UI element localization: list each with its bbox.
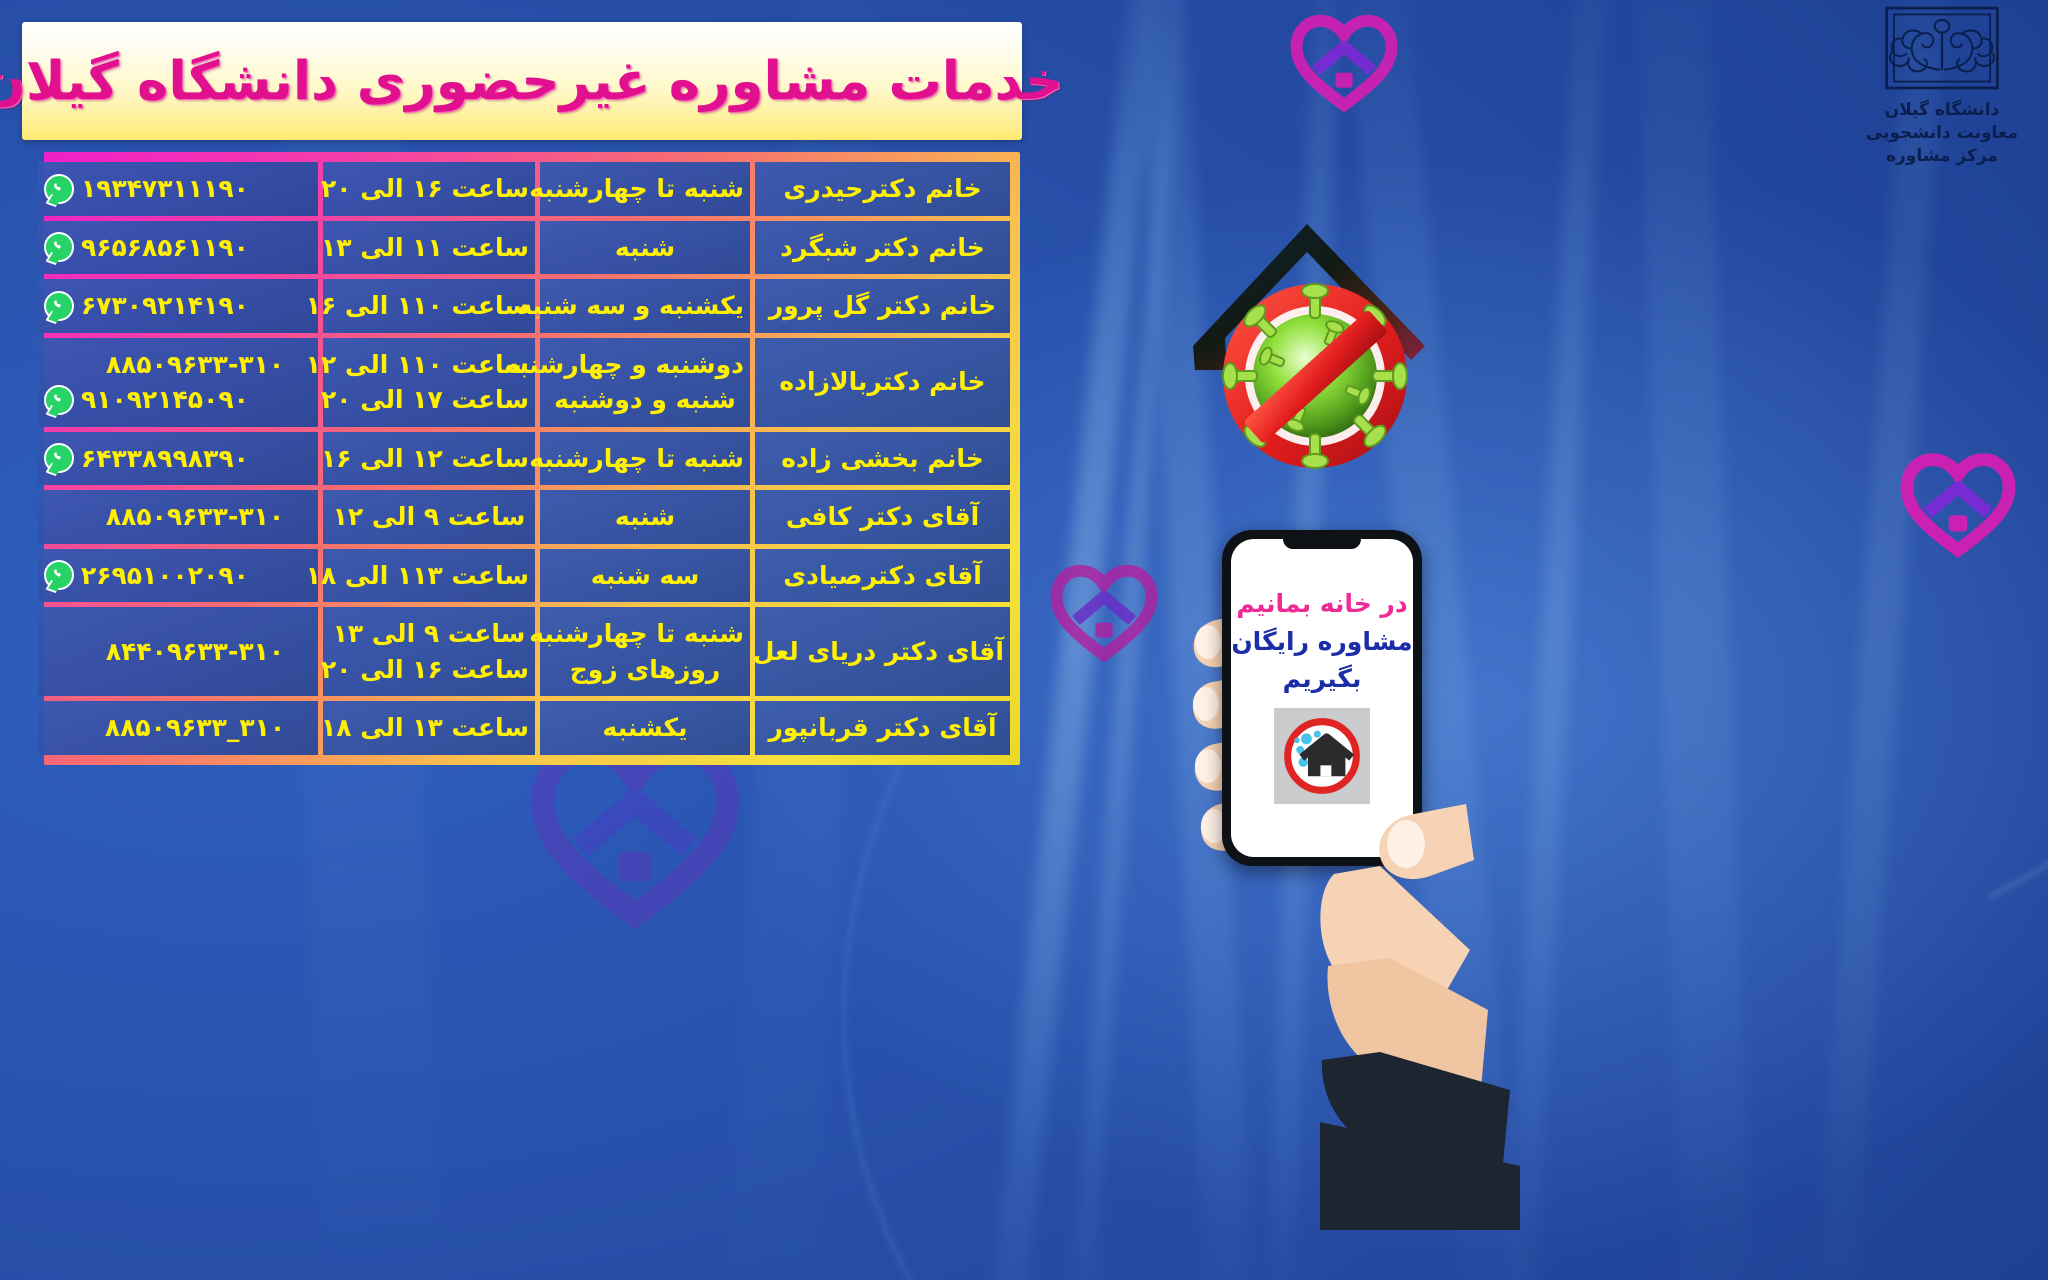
phone-cell: ۰۱۳-۳۳۶۹۰۵۸۸ — [38, 490, 318, 544]
whatsapp-icon[interactable] — [44, 385, 74, 415]
time-line: ساعت ۱۶ الی ۲۰ — [329, 652, 529, 688]
gilan-university-peacock-logo-icon — [1883, 4, 2001, 92]
schedule-table-frame: خانم دکترحیدریشنبه تا چهارشنبهساعت ۱۶ ال… — [44, 152, 1020, 765]
days-line: شنبه تا چهارشنبه — [546, 171, 744, 207]
phone-number[interactable]: ۰۹۱۴۱۲۹۰۳۷۶ — [81, 288, 249, 324]
phone-screen: در خانه بمانیم مشاوره رایگان بگیریم — [1231, 539, 1413, 857]
phone-number[interactable]: ۰۹۰۲۰۰۱۵۹۶۲ — [81, 558, 249, 594]
phone-in-hand-illustration: در خانه بمانیم مشاوره رایگان بگیریم — [1200, 520, 1530, 1280]
phone-notch — [1283, 534, 1361, 549]
advisor-name-cell: خانم دکتر شبگرد — [755, 221, 1010, 275]
days-cell: یکشنبه و سه شنبه — [540, 279, 750, 333]
table-row: خانم دکتر گل پروریکشنبه و سه شنبهساعت ۱۱… — [38, 279, 1010, 333]
days-cell: شنبه — [540, 221, 750, 275]
time-line: ساعت ۱۷ الی ۲۰ — [329, 382, 529, 418]
phone-cell: ۰۹۱۴۱۲۹۰۳۷۶ — [38, 279, 318, 333]
time-cell: ساعت ۱۳ الی ۱۸ — [323, 701, 535, 755]
time-cell: ساعت ۱۶ الی ۲۰ — [323, 162, 535, 216]
time-line: ساعت ۱۳ الی ۱۸ — [329, 710, 529, 746]
background-light-streak — [1807, 0, 1952, 1280]
table-row: آقای دکتر دریای لعلشنبه تا چهارشنبهروزها… — [38, 607, 1010, 696]
counseling-schedule-table: خانم دکترحیدریشنبه تا چهارشنبهساعت ۱۶ ال… — [33, 157, 1015, 760]
days-line: سه شنبه — [546, 558, 744, 594]
table-row: خانم دکترحیدریشنبه تا چهارشنبهساعت ۱۶ ال… — [38, 162, 1010, 216]
days-cell: سه شنبه — [540, 549, 750, 603]
promo-line-free-counseling: مشاوره رایگان — [1231, 623, 1412, 661]
time-line: ساعت ۱۱۳ الی ۱۸ — [329, 558, 529, 594]
phone-number[interactable]: ۰۹۳۸۹۹۸۳۳۴۶ — [81, 441, 249, 477]
advisor-name-cell: خانم دکتربالازاده — [755, 338, 1010, 427]
days-line: شنبه تا چهارشنبه — [546, 616, 744, 652]
days-line: دوشنبه و چهارشنبه — [546, 347, 744, 383]
page-title: خدمات مشاوره غیرحضوری دانشگاه گیلان — [0, 51, 1063, 112]
days-cell: شنبه تا چهارشنبه — [540, 162, 750, 216]
heart-house-icon — [1050, 560, 1158, 668]
whatsapp-icon[interactable] — [44, 232, 74, 262]
table-row: آقای دکتر قربانپوریکشنبهساعت ۱۳ الی ۱۸۰۱… — [38, 701, 1010, 755]
time-cell: ساعت ۱۱۳ الی ۱۸ — [323, 549, 535, 603]
time-cell: ساعت ۱۱۰ الی ۱۲ساعت ۱۷ الی ۲۰ — [323, 338, 535, 427]
phone-line: ۰۹۳۸۹۹۸۳۳۴۶ — [44, 441, 312, 477]
time-line: ساعت ۱۱۰ الی ۱۶ — [329, 288, 529, 324]
days-cell: شنبه تا چهارشنبهروزهای زوج — [540, 607, 750, 696]
time-line: ساعت ۱۶ الی ۲۰ — [329, 171, 529, 207]
days-line: شنبه و دوشنبه — [546, 382, 744, 418]
stay-home-virus-icon — [1283, 717, 1361, 795]
phone-line: ۰۱۳_۳۳۶۹۰۵۸۸ — [44, 710, 312, 746]
background-light-streak — [1634, 0, 1757, 1280]
advisor-name-cell: آقای دکتر کافی — [755, 490, 1010, 544]
phone-number[interactable]: ۰۱۳-۳۳۶۹۰۵۸۸ — [106, 499, 284, 535]
phone-cell: ۰۹۳۸۹۹۸۳۳۴۶ — [38, 432, 318, 486]
advisor-name-cell: آقای دکتر دریای لعل — [755, 607, 1010, 696]
days-line: شنبه — [546, 499, 744, 535]
phone-cell: ۰۹۱۱۶۵۸۶۵۶۹ — [38, 221, 318, 275]
phone-number[interactable]: ۰۱۳_۳۳۶۹۰۵۸۸ — [105, 710, 285, 746]
advisor-name-cell: خانم دکتر گل پرور — [755, 279, 1010, 333]
days-cell: دوشنبه و چهارشنبهشنبه و دوشنبه — [540, 338, 750, 427]
stay-home-badge — [1274, 708, 1370, 804]
advisor-name-cell: خانم دکترحیدری — [755, 162, 1010, 216]
schedule-table-body: خانم دکترحیدریشنبه تا چهارشنبهساعت ۱۶ ال… — [38, 162, 1010, 755]
phone-line: ۰۹۱۱۶۵۸۶۵۶۹ — [44, 230, 312, 266]
phone-line: ۰۱۳-۳۳۶۹۰۴۴۸ — [44, 634, 312, 670]
phone-number[interactable]: ۰۹۱۱۶۵۸۶۵۶۹ — [81, 230, 249, 266]
time-line: ساعت ۱۱۰ الی ۱۲ — [329, 347, 529, 383]
smartphone-device: در خانه بمانیم مشاوره رایگان بگیریم — [1222, 530, 1422, 866]
table-row: خانم دکتربالازادهدوشنبه و چهارشنبهشنبه و… — [38, 338, 1010, 427]
heart-house-icon — [1900, 448, 2016, 564]
time-cell: ساعت ۱۱ الی ۱۳ — [323, 221, 535, 275]
phone-number[interactable]: ۰۹۰۵۴۱۲۹۰۱۹ — [81, 382, 249, 418]
time-line: ساعت ۹ الی ۱۲ — [329, 499, 529, 535]
phone-number[interactable]: ۰۹۱۱۱۳۷۴۳۹۱ — [81, 171, 249, 207]
logo-line-university: دانشگاه گیلان — [1844, 99, 2040, 122]
time-line: ساعت ۱۲ الی ۱۶ — [329, 441, 529, 477]
time-cell: ساعت ۱۲ الی ۱۶ — [323, 432, 535, 486]
phone-line: ۰۱۳-۳۳۶۹۰۵۸۸ — [44, 499, 312, 535]
days-line: روزهای زوج — [546, 652, 744, 688]
whatsapp-icon[interactable] — [44, 443, 74, 473]
advisor-name-cell: خانم بخشی زاده — [755, 432, 1010, 486]
days-line: یکشنبه — [546, 710, 744, 746]
poster-canvas: خدمات مشاوره غیرحضوری دانشگاه گیلان خانم… — [0, 0, 2048, 1280]
table-row: آقای دکترصیادیسه شنبهساعت ۱۱۳ الی ۱۸۰۹۰۲… — [38, 549, 1010, 603]
table-row: خانم بخشی زادهشنبه تا چهارشنبهساعت ۱۲ ال… — [38, 432, 1010, 486]
phone-cell: ۰۱۳-۳۳۶۹۰۵۸۸۰۹۰۵۴۱۲۹۰۱۹ — [38, 338, 318, 427]
phone-cell: ۰۱۳_۳۳۶۹۰۵۸۸ — [38, 701, 318, 755]
title-banner: خدمات مشاوره غیرحضوری دانشگاه گیلان — [22, 22, 1022, 140]
advisor-name-cell: آقای دکتر قربانپور — [755, 701, 1010, 755]
university-logo-block: دانشگاه گیلان معاونت دانشجویی مرکز مشاور… — [1844, 4, 2040, 168]
phone-line: ۰۹۰۲۰۰۱۵۹۶۲ — [44, 558, 312, 594]
background-light-streak — [1065, 0, 1190, 1280]
phone-line: ۰۹۰۵۴۱۲۹۰۱۹ — [44, 382, 312, 418]
days-cell: شنبه تا چهارشنبه — [540, 432, 750, 486]
whatsapp-icon[interactable] — [44, 174, 74, 204]
days-line: شنبه — [546, 230, 744, 266]
phone-number[interactable]: ۰۱۳-۳۳۶۹۰۵۸۸ — [106, 347, 284, 383]
no-virus-house-icon — [1175, 180, 1445, 480]
phone-line: ۰۹۱۱۱۳۷۴۳۹۱ — [44, 171, 312, 207]
time-cell: ساعت ۹ الی ۱۳ساعت ۱۶ الی ۲۰ — [323, 607, 535, 696]
days-cell: یکشنبه — [540, 701, 750, 755]
phone-line: ۰۹۱۴۱۲۹۰۳۷۶ — [44, 288, 312, 324]
logo-line-deputy: معاونت دانشجویی — [1844, 122, 2040, 145]
logo-line-center: مرکز مشاوره — [1844, 145, 2040, 168]
days-cell: شنبه — [540, 490, 750, 544]
whatsapp-icon[interactable] — [44, 560, 74, 590]
advisor-name-cell: آقای دکترصیادی — [755, 549, 1010, 603]
phone-number[interactable]: ۰۱۳-۳۳۶۹۰۴۴۸ — [106, 634, 284, 670]
promo-line-stay-home: در خانه بمانیم — [1236, 585, 1407, 623]
phone-cell: ۰۱۳-۳۳۶۹۰۴۴۸ — [38, 607, 318, 696]
phone-line: ۰۱۳-۳۳۶۹۰۵۸۸ — [44, 347, 312, 383]
promo-line-get-it: بگیریم — [1283, 660, 1362, 698]
days-line: یکشنبه و سه شنبه — [546, 288, 744, 324]
time-line: ساعت ۱۱ الی ۱۳ — [329, 230, 529, 266]
table-row: آقای دکتر کافیشنبهساعت ۹ الی ۱۲۰۱۳-۳۳۶۹۰… — [38, 490, 1010, 544]
time-cell: ساعت ۱۱۰ الی ۱۶ — [323, 279, 535, 333]
table-row: خانم دکتر شبگردشنبهساعت ۱۱ الی ۱۳۰۹۱۱۶۵۸… — [38, 221, 1010, 275]
whatsapp-icon[interactable] — [44, 291, 74, 321]
days-line: شنبه تا چهارشنبه — [546, 441, 744, 477]
time-cell: ساعت ۹ الی ۱۲ — [323, 490, 535, 544]
phone-cell: ۰۹۰۲۰۰۱۵۹۶۲ — [38, 549, 318, 603]
phone-cell: ۰۹۱۱۱۳۷۴۳۹۱ — [38, 162, 318, 216]
time-line: ساعت ۹ الی ۱۳ — [329, 616, 529, 652]
heart-house-icon — [1290, 10, 1398, 118]
